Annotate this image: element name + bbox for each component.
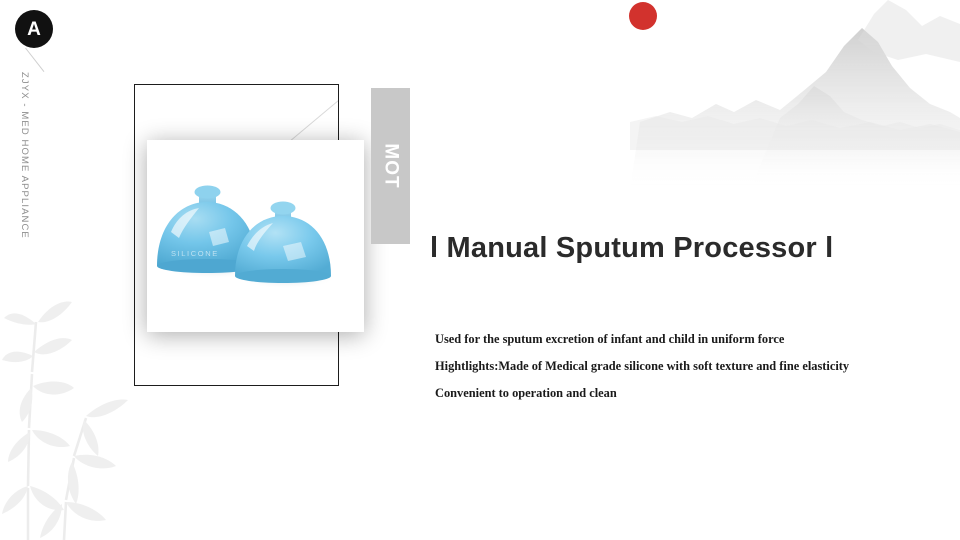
product-photo-card: SILICONE xyxy=(147,140,364,332)
mountain-watermark-icon xyxy=(630,0,960,190)
svg-text:SILICONE: SILICONE xyxy=(171,249,219,258)
feature-bullet-item: Hightlights:Made of Medical grade silico… xyxy=(435,353,940,380)
feature-bullet-item: Used for the sputum excretion of infant … xyxy=(435,326,940,353)
product-image: SILICONE xyxy=(147,140,364,332)
brand-vertical-label: ZJYX - MED HOME APPLIANCE xyxy=(19,72,30,239)
brand-slash-divider xyxy=(25,48,44,72)
page-title: l Manual Sputum Processor l xyxy=(430,232,833,265)
feature-bullet-list: Used for the sputum excretion of infant … xyxy=(435,326,940,407)
brand-badge-letter: A xyxy=(27,20,41,39)
vertical-accent-label: MOT xyxy=(380,143,402,188)
brand-logo-badge: A xyxy=(15,10,53,48)
feature-bullet-item: Convenient to operation and clean xyxy=(435,380,940,407)
vertical-accent-bar: MOT xyxy=(371,88,410,244)
red-dot-marker xyxy=(629,2,657,30)
